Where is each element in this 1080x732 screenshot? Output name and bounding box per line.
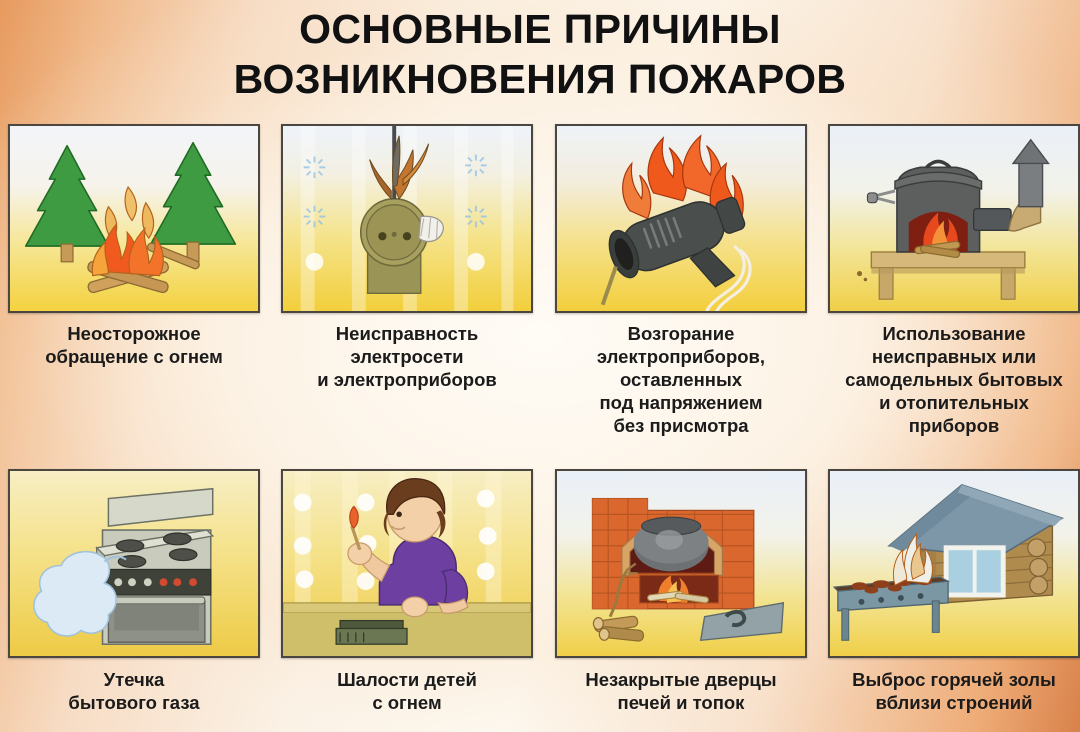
panel-2-image-frame [281, 124, 533, 313]
burning-wall-socket-icon [283, 126, 531, 312]
panel-4-caption-line-1: Использование [828, 322, 1080, 345]
campfire-with-fir-trees-icon [10, 126, 258, 312]
panel-3-caption: Возгорание электроприборов, оставленных … [555, 322, 807, 437]
page-title-line-1: ОСНОВНЫЕ ПРИЧИНЫ [0, 4, 1080, 54]
panel-4-caption-line-2: неисправных или [828, 345, 1080, 368]
panel-8: Выброс горячей золы вблизи строений [828, 469, 1080, 714]
panel-2-caption-line-2: электросети [281, 345, 533, 368]
panel-3: Возгорание электроприборов, оставленных … [555, 124, 807, 437]
panel-4-caption-line-5: приборов [828, 414, 1080, 437]
panel-1-caption-line-1: Неосторожное [8, 322, 260, 345]
panel-8-caption-line-2: вблизи строений [828, 691, 1080, 714]
panel-7-image-frame [555, 469, 807, 658]
panel-row-bottom: Утечка бытового газа [0, 469, 1080, 714]
panel-3-caption-line-2: электроприборов, [555, 345, 807, 368]
panel-7-caption: Незакрытые дверцы печей и топок [555, 668, 807, 714]
page-title-line-2: ВОЗНИКНОВЕНИЯ ПОЖАРОВ [0, 54, 1080, 104]
panel-row-top: Неосторожное обращение с огнем [0, 124, 1080, 437]
panel-4-image-frame [828, 124, 1080, 313]
panel-5-caption-line-2: бытового газа [8, 691, 260, 714]
panel-4-caption-line-4: и отопительных [828, 391, 1080, 414]
panel-7: Незакрытые дверцы печей и топок [555, 469, 807, 714]
panel-2-caption-line-3: и электроприборов [281, 368, 533, 391]
panel-7-caption-line-2: печей и топок [555, 691, 807, 714]
panel-5-image-frame [8, 469, 260, 658]
panel-4-caption: Использование неисправных или самодельны… [828, 322, 1080, 437]
panel-5-caption: Утечка бытового газа [8, 668, 260, 714]
panel-1: Неосторожное обращение с огнем [8, 124, 260, 437]
panel-6-caption: Шалости детей с огнем [281, 668, 533, 714]
panel-5: Утечка бытового газа [8, 469, 260, 714]
panel-5-caption-line-1: Утечка [8, 668, 260, 691]
panel-1-caption: Неосторожное обращение с огнем [8, 322, 260, 368]
panel-8-image-frame [828, 469, 1080, 658]
panel-2: Неисправность электросети и электроприбо… [281, 124, 533, 437]
panel-3-caption-line-3: оставленных [555, 368, 807, 391]
panel-8-caption-line-1: Выброс горячей золы [828, 668, 1080, 691]
panel-8-caption: Выброс горячей золы вблизи строений [828, 668, 1080, 714]
panel-1-image-frame [8, 124, 260, 313]
panel-2-caption: Неисправность электросети и электроприбо… [281, 322, 533, 391]
panel-3-image-frame [555, 124, 807, 313]
child-with-match-icon [283, 471, 531, 657]
open-brick-stove-icon [557, 471, 805, 657]
panel-6-caption-line-2: с огнем [281, 691, 533, 714]
panel-6-image-frame [281, 469, 533, 658]
panel-4-caption-line-3: самодельных бытовых [828, 368, 1080, 391]
leaking-gas-stove-icon [10, 471, 258, 657]
page-title: ОСНОВНЫЕ ПРИЧИНЫ ВОЗНИКНОВЕНИЯ ПОЖАРОВ [0, 4, 1080, 104]
panel-3-caption-line-5: без присмотра [555, 414, 807, 437]
hot-ash-grill-near-house-icon [830, 471, 1078, 657]
panel-3-caption-line-4: под напряжением [555, 391, 807, 414]
panel-1-caption-line-2: обращение с огнем [8, 345, 260, 368]
homemade-stove-heater-icon [830, 126, 1078, 312]
burning-hair-dryer-icon [557, 126, 805, 312]
panel-7-caption-line-1: Незакрытые дверцы [555, 668, 807, 691]
panel-4: Использование неисправных или самодельны… [828, 124, 1080, 437]
panel-6-caption-line-1: Шалости детей [281, 668, 533, 691]
panel-6: Шалости детей с огнем [281, 469, 533, 714]
fire-causes-poster: ОСНОВНЫЕ ПРИЧИНЫ ВОЗНИКНОВЕНИЯ ПОЖАРОВ [0, 0, 1080, 732]
panel-3-caption-line-1: Возгорание [555, 322, 807, 345]
panel-2-caption-line-1: Неисправность [281, 322, 533, 345]
